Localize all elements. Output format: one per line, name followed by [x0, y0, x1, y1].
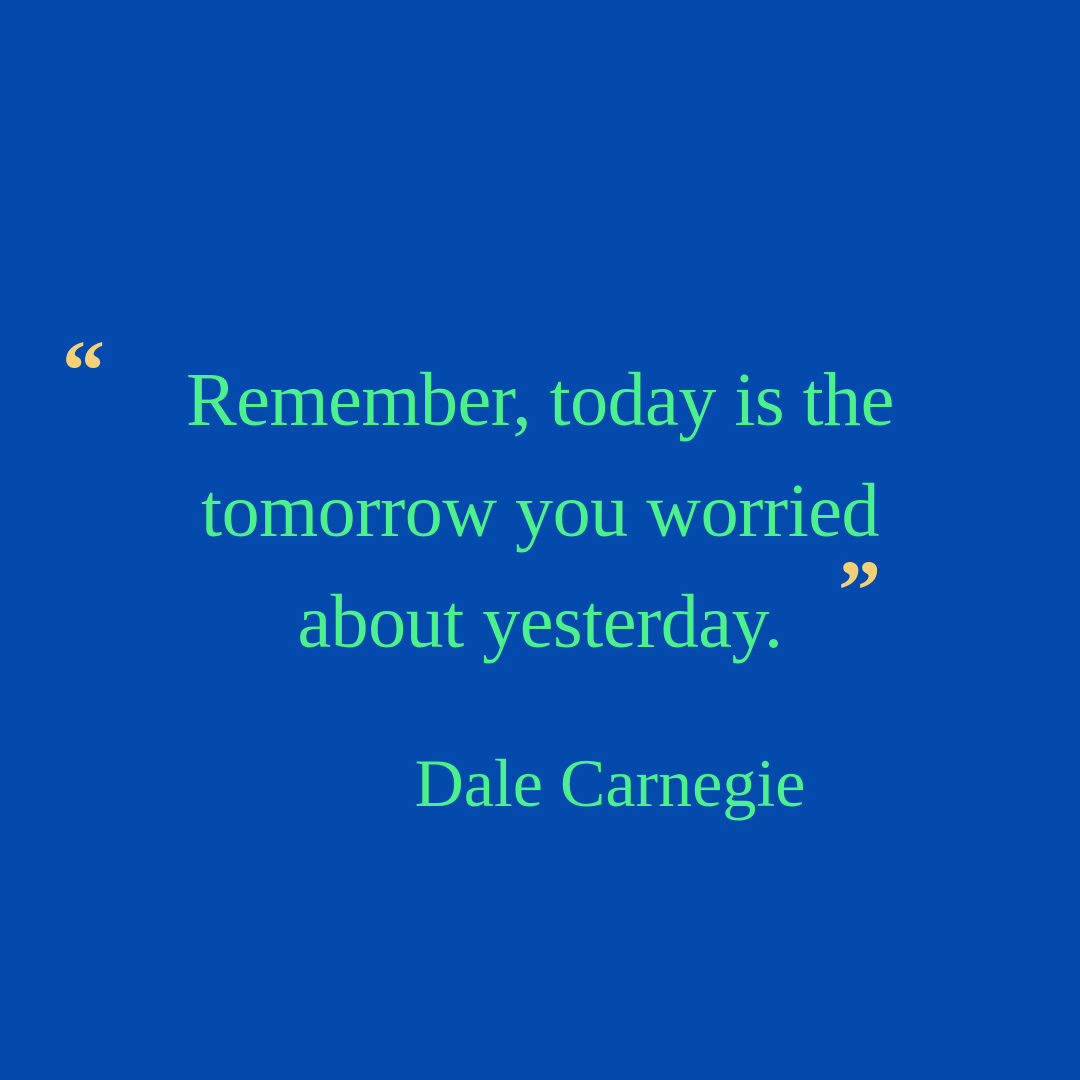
quote-line-3: about yesterday. [0, 567, 1080, 678]
quote-line-2: tomorrow you worried [0, 456, 1080, 567]
close-quote-mark-icon: ” [838, 547, 879, 633]
quote-card: “ Remember, today is the tomorrow you wo… [0, 0, 1080, 1080]
quote-block: “ Remember, today is the tomorrow you wo… [0, 345, 1080, 678]
quote-line-1: Remember, today is the [0, 345, 1080, 456]
attribution: Dale Carnegie [0, 738, 1080, 828]
attribution-author-name: Dale Carnegie [415, 738, 806, 828]
